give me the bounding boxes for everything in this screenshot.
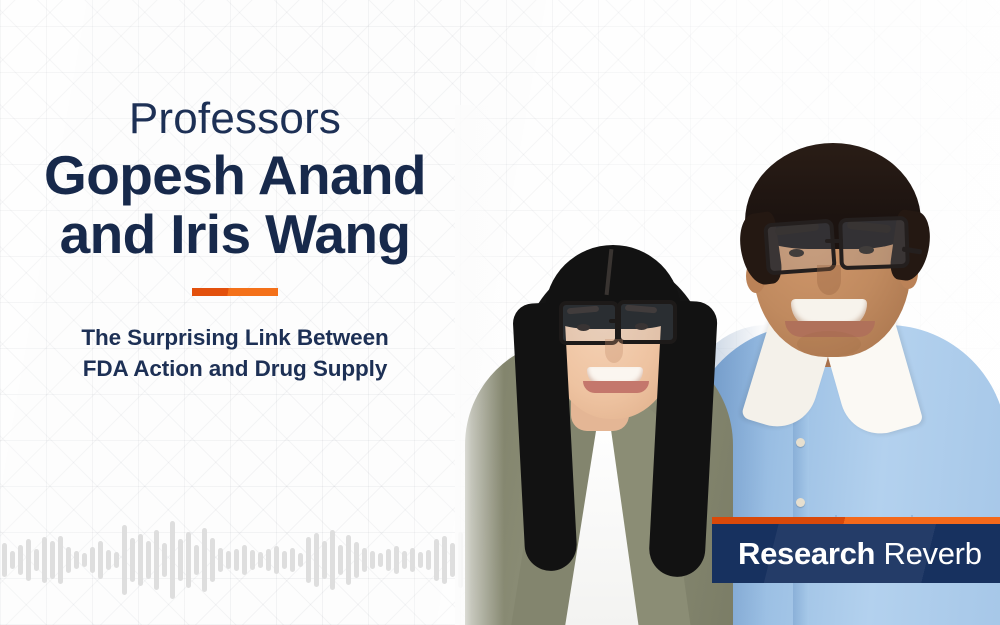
waveform-bar xyxy=(106,550,111,570)
waveform-bar xyxy=(378,553,383,567)
waveform-bar xyxy=(58,536,63,584)
waveform-bar xyxy=(194,545,199,575)
waveform-bar xyxy=(338,545,343,575)
eyebrow-label: Professors xyxy=(0,96,470,142)
waveform-bar xyxy=(50,541,55,579)
waveform-bar xyxy=(26,539,31,581)
man-glasses-bridge xyxy=(825,239,843,243)
waveform-bar xyxy=(442,536,447,584)
waveform-bar xyxy=(234,549,239,571)
waveform-bar xyxy=(2,543,7,577)
waveform-bar xyxy=(34,549,39,571)
waveform-bar xyxy=(322,541,327,579)
waveform-bar xyxy=(242,545,247,575)
waveform-bar xyxy=(82,553,87,567)
woman-nose xyxy=(605,339,623,363)
waveform-bar xyxy=(18,545,23,575)
man-nose xyxy=(817,265,841,295)
waveform-bar xyxy=(162,543,167,577)
logo-navy-bar: Research Reverb xyxy=(712,524,1000,583)
waveform-bar xyxy=(434,539,439,581)
woman-lower-lip xyxy=(583,381,649,393)
waveform-bar xyxy=(426,550,431,570)
waveform-bar xyxy=(394,546,399,574)
waveform-bar xyxy=(402,551,407,569)
man-chin xyxy=(797,331,861,357)
waveform-bar xyxy=(410,548,415,572)
logo-word-research: Research xyxy=(738,536,875,571)
waveform-bar xyxy=(98,541,103,579)
waveform-bar xyxy=(178,539,183,581)
logo-word-reverb: Reverb xyxy=(875,536,981,571)
waveform-bar xyxy=(90,547,95,573)
man-shirt-button xyxy=(796,498,805,507)
waveform-bar xyxy=(138,534,143,586)
waveform-bar xyxy=(282,551,287,569)
episode-subtitle: The Surprising Link Between FDA Action a… xyxy=(0,322,470,384)
research-reverb-logo[interactable]: Research Reverb xyxy=(712,517,1000,583)
waveform-bar xyxy=(258,552,263,568)
hero-text-block: Professors Gopesh Anand and Iris Wang Th… xyxy=(0,96,470,384)
waveform-bar xyxy=(114,552,119,568)
subtitle-line-2: FDA Action and Drug Supply xyxy=(0,353,470,384)
waveform-bar xyxy=(146,541,151,579)
page-title: Gopesh Anand and Iris Wang xyxy=(0,146,470,264)
waveform-bar xyxy=(386,549,391,571)
waveform-bar xyxy=(354,542,359,578)
logo-wordmark: Research Reverb xyxy=(712,538,982,569)
title-line-2: and Iris Wang xyxy=(0,205,470,264)
orange-divider-rule xyxy=(192,288,278,296)
waveform-bar xyxy=(418,552,423,568)
woman-glasses-bridge xyxy=(609,319,621,323)
waveform-bar xyxy=(122,525,127,595)
audio-waveform-graphic xyxy=(0,495,500,625)
waveform-bar xyxy=(218,548,223,572)
waveform-bar xyxy=(306,537,311,583)
waveform-bar xyxy=(74,551,79,569)
subtitle-line-1: The Surprising Link Between xyxy=(0,322,470,353)
podcast-cover-canvas: Professors Gopesh Anand and Iris Wang Th… xyxy=(0,0,1000,625)
man-shirt-button xyxy=(796,438,805,447)
waveform-bar xyxy=(370,551,375,569)
waveform-bar xyxy=(298,553,303,567)
waveform-bar xyxy=(314,533,319,587)
waveform-bar xyxy=(274,546,279,574)
waveform-bar xyxy=(202,528,207,592)
waveform-bar xyxy=(186,532,191,588)
title-line-1: Gopesh Anand xyxy=(0,146,470,205)
waveform-bar xyxy=(330,530,335,590)
waveform-bar xyxy=(362,548,367,572)
waveform-bar xyxy=(266,549,271,571)
man-glasses-lens-right xyxy=(838,216,910,270)
waveform-bar xyxy=(42,537,47,583)
waveform-bar xyxy=(170,521,175,599)
waveform-bar xyxy=(210,538,215,582)
waveform-bar xyxy=(10,551,15,569)
waveform-bar xyxy=(154,530,159,590)
waveform-bar xyxy=(226,551,231,569)
waveform-bar xyxy=(250,550,255,570)
waveform-bar xyxy=(290,548,295,572)
waveform-bar xyxy=(66,547,71,573)
waveform-bar xyxy=(346,535,351,585)
logo-orange-stripe xyxy=(712,517,1000,524)
waveform-bar xyxy=(130,538,135,582)
divider-wrap xyxy=(0,288,470,296)
woman-glasses-lens-right xyxy=(617,300,677,344)
